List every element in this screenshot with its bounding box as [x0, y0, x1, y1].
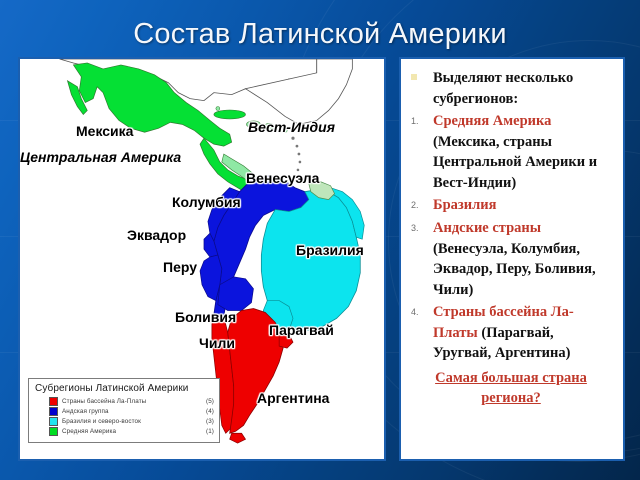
intro-text: Выделяют несколько субрегионов:	[433, 68, 615, 109]
legend-count: (3)	[206, 418, 214, 425]
legend-count: (4)	[206, 408, 214, 415]
legend-item: Страны бассейна Ла-Платы (5)	[49, 397, 214, 406]
map-legend: Субрегионы Латинской Америки Страны басс…	[28, 378, 220, 443]
slide: Состав Латинской Америки	[0, 0, 640, 480]
legend-swatch-middle-america	[49, 427, 58, 436]
list-text: Андские страны (Венесуэла, Колумбия, Экв…	[433, 218, 615, 300]
list-number: 1.	[407, 111, 433, 132]
legend-count: (5)	[206, 398, 214, 405]
subregion-name: Бразилия	[433, 197, 496, 213]
map-label-west-indies: Вест-Индия	[248, 119, 335, 135]
page-title: Состав Латинской Америки	[0, 18, 640, 51]
map-label-peru: Перу	[163, 259, 197, 275]
subregion-name: Средняя Америка	[433, 113, 551, 129]
map-label-bolivia: Боливия	[175, 309, 236, 325]
list-text: Страны бассейна Ла-Платы (Парагвай, Уруг…	[433, 302, 615, 364]
legend-item: Бразилия и северо-восток (3)	[49, 417, 214, 426]
subregion-detail: (Мексика, страны Центральной Америки и В…	[433, 134, 597, 191]
intro-item: Выделяют несколько субрегионов:	[407, 68, 615, 109]
list-text: Средняя Америка (Мексика, страны Централ…	[433, 111, 615, 193]
map-label-ecuador: Эквадор	[127, 227, 186, 243]
list-item: 4. Страны бассейна Ла-Платы (Парагвай, У…	[407, 302, 615, 364]
legend-label: Андская группа	[62, 408, 203, 415]
subregion-detail: (Венесуэла, Колумбия, Эквадор, Перу, Бол…	[433, 241, 596, 298]
list-item: 2. Бразилия	[407, 195, 615, 216]
legend-label: Бразилия и северо-восток	[62, 418, 203, 425]
list-item: 3. Андские страны (Венесуэла, Колумбия, …	[407, 218, 615, 300]
legend-item: Средняя Америка (1)	[49, 427, 214, 436]
legend-label: Страны бассейна Ла-Платы	[62, 398, 203, 405]
legend-swatch-andean	[49, 407, 58, 416]
question-text: Самая большая страна региона?	[407, 368, 615, 409]
map-panel: Мексика Вест-Индия Центральная Америка В…	[18, 57, 386, 461]
list-number: 3.	[407, 218, 433, 239]
legend-swatch-plate-basin	[49, 397, 58, 406]
subregions-text-panel: Выделяют несколько субрегионов: 1. Средн…	[399, 57, 625, 461]
list-text: Бразилия	[433, 195, 615, 216]
map-label-brazil: Бразилия	[296, 242, 364, 258]
subregion-name: Андские страны	[433, 220, 541, 236]
map-label-mexico: Мексика	[76, 123, 133, 139]
legend-swatch-brazil	[49, 417, 58, 426]
map-label-chile: Чили	[199, 335, 235, 351]
list-number: 4.	[407, 302, 433, 323]
map-label-central-america: Центральная Америка	[20, 149, 181, 165]
legend-label: Средняя Америка	[62, 428, 203, 435]
map-label-colombia: Колумбия	[172, 194, 241, 210]
square-bullet-icon	[407, 68, 433, 88]
legend-title: Субрегионы Латинской Америки	[35, 383, 214, 394]
map-label-paraguay: Парагвай	[269, 322, 334, 338]
legend-item: Андская группа (4)	[49, 407, 214, 416]
map-label-venezuela: Венесуэла	[246, 170, 319, 186]
list-item: 1. Средняя Америка (Мексика, страны Цент…	[407, 111, 615, 193]
list-number: 2.	[407, 195, 433, 216]
map-label-argentina: Аргентина	[257, 390, 329, 406]
legend-count: (1)	[206, 428, 214, 435]
